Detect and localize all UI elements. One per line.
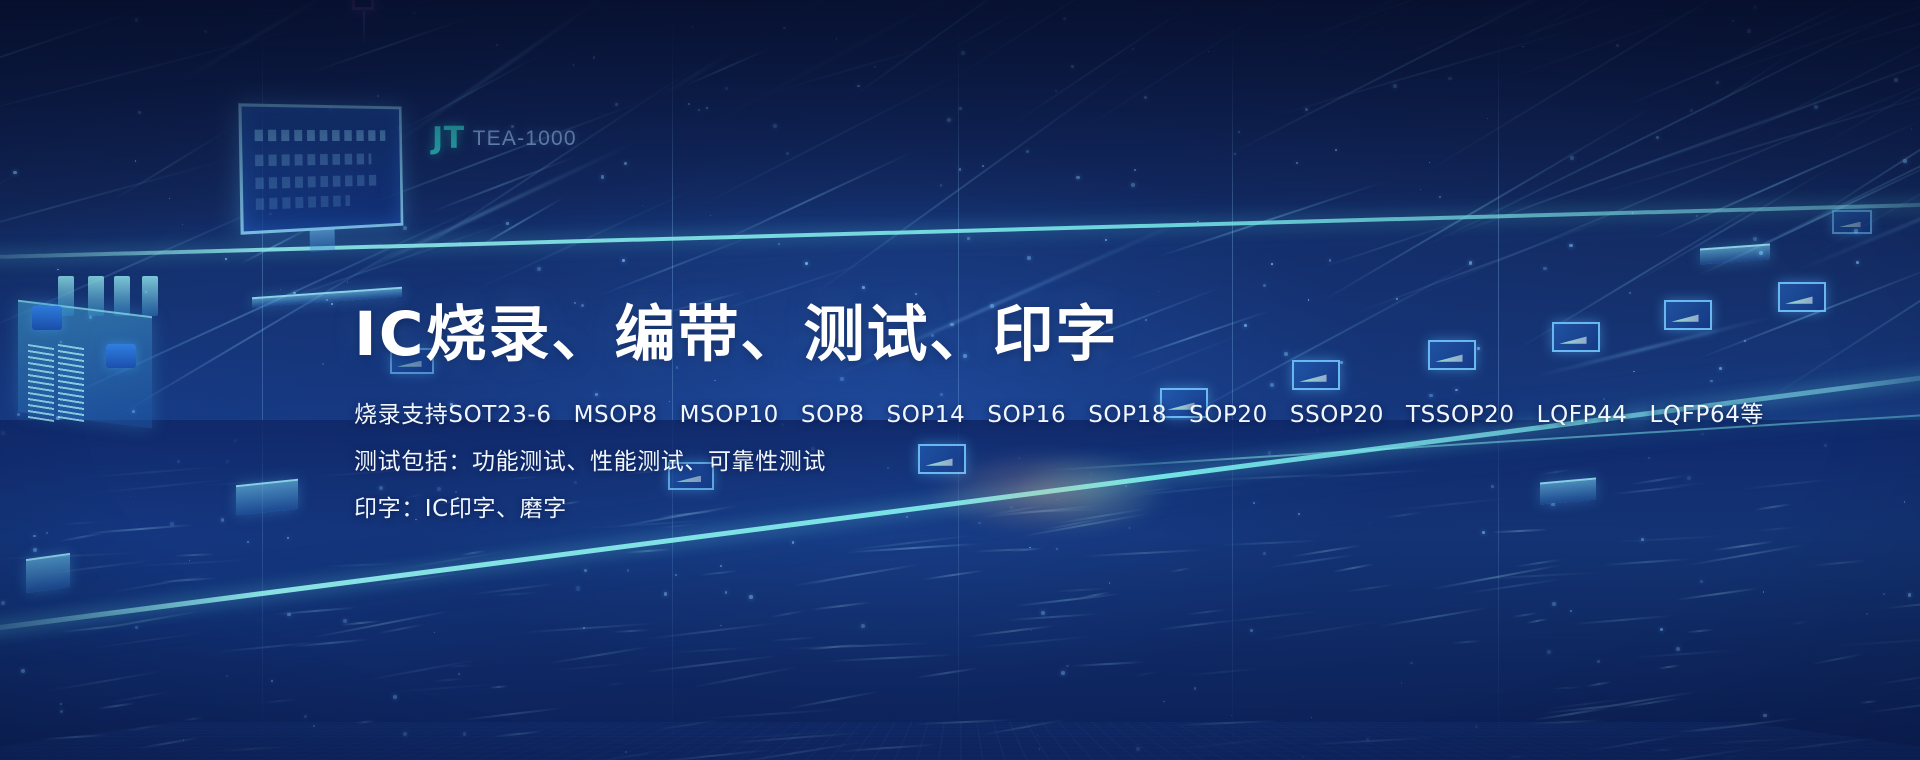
chip-card-icon	[1664, 300, 1712, 330]
hero-content: IC烧录、编带、测试、印字 烧录支持SOT23-6MSOP8MSOP10SOP8…	[354, 300, 1634, 545]
shelf-tray	[236, 479, 298, 516]
industrial-machine-graphic	[10, 270, 170, 460]
perspective-beam-upper	[0, 200, 1920, 262]
package-name: MSOP8	[574, 402, 658, 428]
equipment-label: JT TEA-1000	[432, 124, 577, 154]
package-name: LQFP44	[1537, 402, 1628, 428]
detail-line-marking-scope: 印字：IC印字、磨字	[354, 498, 1634, 521]
package-name: SOP20	[1189, 402, 1268, 428]
top-shadow-overlay	[0, 0, 1920, 230]
package-name: TSSOP20	[1406, 402, 1515, 428]
detail-line-test-scope: 测试包括：功能测试、性能测试、可靠性测试	[354, 451, 1634, 474]
package-name: SOT23-6	[448, 402, 551, 428]
package-name: SSOP20	[1290, 402, 1384, 428]
package-name: SOP8	[801, 402, 865, 428]
magenta-marker-icon	[352, 0, 374, 10]
package-list: SOT23-6MSOP8MSOP10SOP8SOP14SOP16SOP18SOP…	[448, 402, 1764, 428]
package-name: LQFP64等	[1650, 402, 1764, 428]
equipment-model-text: TEA-1000	[473, 127, 577, 151]
hero-detail-lines: 烧录支持SOT23-6MSOP8MSOP10SOP8SOP14SOP16SOP1…	[354, 404, 1634, 521]
circuit-floor-grid	[0, 722, 1920, 760]
package-name: SOP14	[887, 402, 966, 428]
shelf-tray	[1700, 244, 1770, 265]
page-title: IC烧录、编带、测试、印字	[354, 300, 1634, 370]
package-name: MSOP10	[680, 402, 779, 428]
hero-banner: JT TEA-1000 IC烧录、编带、测试、印字 烧录支持SOT23-6MSO…	[0, 0, 1920, 760]
package-name: SOP18	[1088, 402, 1167, 428]
burn-support-prefix: 烧录支持	[354, 402, 448, 428]
brand-logo-text: JT	[432, 124, 465, 154]
vertical-pillar	[262, 0, 263, 760]
workstation-monitor-graphic	[238, 103, 403, 235]
detail-line-burn-support: 烧录支持SOT23-6MSOP8MSOP10SOP8SOP14SOP16SOP1…	[354, 404, 1634, 427]
shelf-tray	[26, 553, 70, 593]
package-name: SOP16	[987, 402, 1066, 428]
chip-card-icon	[1778, 282, 1826, 312]
chip-card-icon	[1832, 210, 1872, 234]
